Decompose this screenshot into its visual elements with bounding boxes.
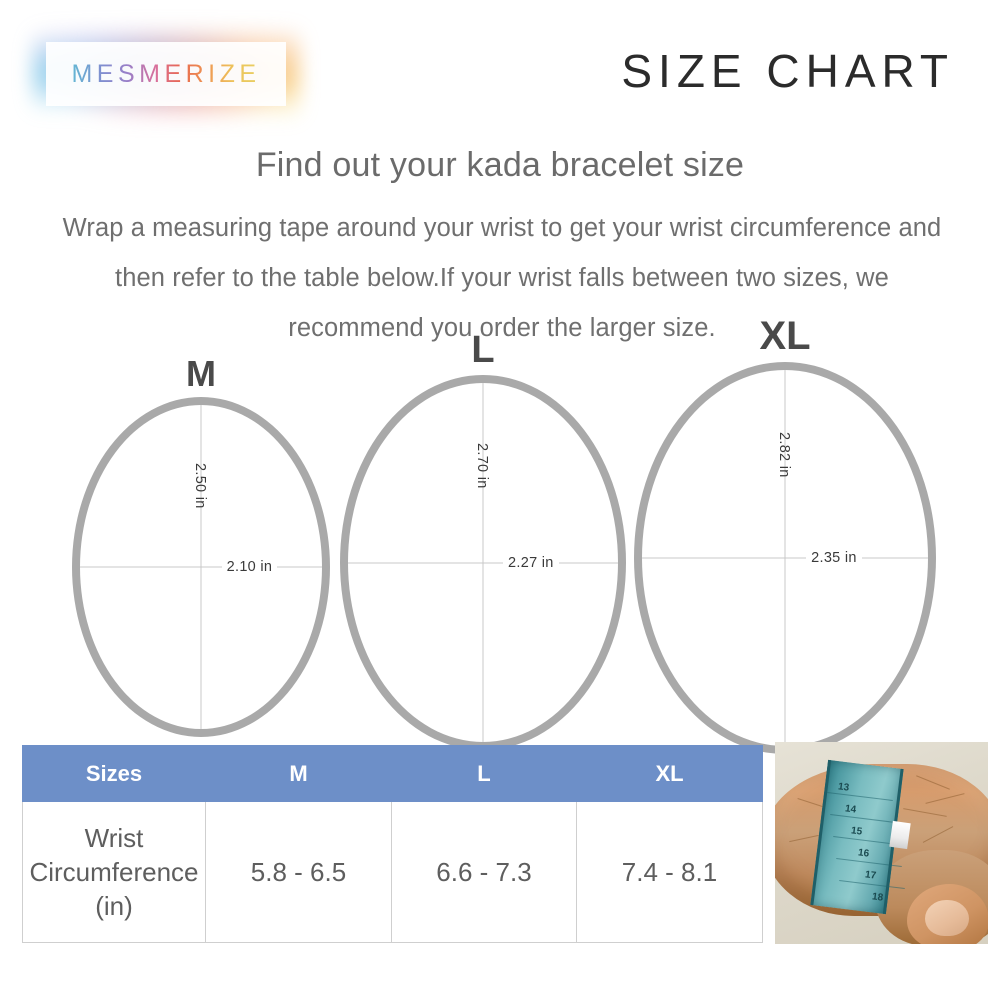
tape-mark-15: 15 — [850, 825, 862, 837]
page-title: SIZE CHART — [621, 44, 954, 98]
oval-diagram-group: M 2.50 in 2.10 in L 2.70 in 2.27 in XL 2… — [0, 340, 1000, 740]
wrist-measuring-photo: 13 14 15 16 17 18 — [775, 742, 988, 944]
table-row: Wrist Circumference (in) 5.8 - 6.5 6.6 -… — [23, 802, 763, 943]
tape-mark-16: 16 — [857, 847, 869, 859]
brand-logo: MESMERIZE — [46, 42, 286, 106]
table-header-m: M — [206, 746, 392, 802]
oval-diagram-m: M 2.50 in 2.10 in — [72, 397, 330, 737]
oval-size-label-xl: XL — [759, 314, 810, 359]
table-header-l: L — [392, 746, 577, 802]
row-label-line-3: (in) — [95, 891, 133, 921]
oval-size-label-m: M — [186, 353, 216, 395]
size-chart-page: MESMERIZE SIZE CHART Find out your kada … — [0, 0, 1000, 1000]
oval-width-label-m: 2.10 in — [222, 559, 278, 575]
row-label-wrist-circumference: Wrist Circumference (in) — [23, 802, 206, 943]
logo-card: MESMERIZE — [46, 42, 286, 106]
tape-mark-13: 13 — [837, 781, 849, 793]
cell-l-range: 6.6 - 7.3 — [392, 802, 577, 943]
oval-ring-m — [72, 397, 330, 737]
row-label-line-1: Wrist — [85, 823, 144, 853]
size-table: Sizes M L XL Wrist Circumference (in) 5.… — [22, 745, 763, 943]
table-header-xl: XL — [577, 746, 763, 802]
table-header-row: Sizes M L XL — [23, 746, 763, 802]
oval-ring-xl — [634, 362, 936, 754]
oval-width-label-l: 2.27 in — [503, 555, 559, 571]
row-label-line-2: Circumference — [29, 857, 198, 887]
headline: Find out your kada bracelet size — [0, 146, 1000, 185]
oval-diagram-xl: XL 2.82 in 2.35 in — [634, 362, 936, 754]
oval-height-label-l: 2.70 in — [474, 443, 490, 489]
logo-wordmark: MESMERIZE — [71, 60, 260, 89]
tape-clip — [889, 821, 910, 849]
oval-height-label-m: 2.50 in — [192, 463, 208, 509]
oval-height-label-xl: 2.82 in — [776, 432, 792, 478]
tape-mark-18: 18 — [871, 891, 883, 903]
tape-mark-14: 14 — [844, 803, 856, 815]
oval-ring-l — [340, 375, 626, 750]
oval-diagram-l: L 2.70 in 2.27 in — [340, 375, 626, 750]
oval-width-label-xl: 2.35 in — [806, 550, 862, 566]
tape-mark-17: 17 — [864, 869, 876, 881]
oval-size-label-l: L — [471, 329, 494, 372]
intro-paragraph: Wrap a measuring tape around your wrist … — [52, 203, 952, 353]
cell-m-range: 5.8 - 6.5 — [206, 802, 392, 943]
photo-thumbnail — [925, 900, 969, 936]
cell-xl-range: 7.4 - 8.1 — [577, 802, 763, 943]
table-header-sizes: Sizes — [23, 746, 206, 802]
